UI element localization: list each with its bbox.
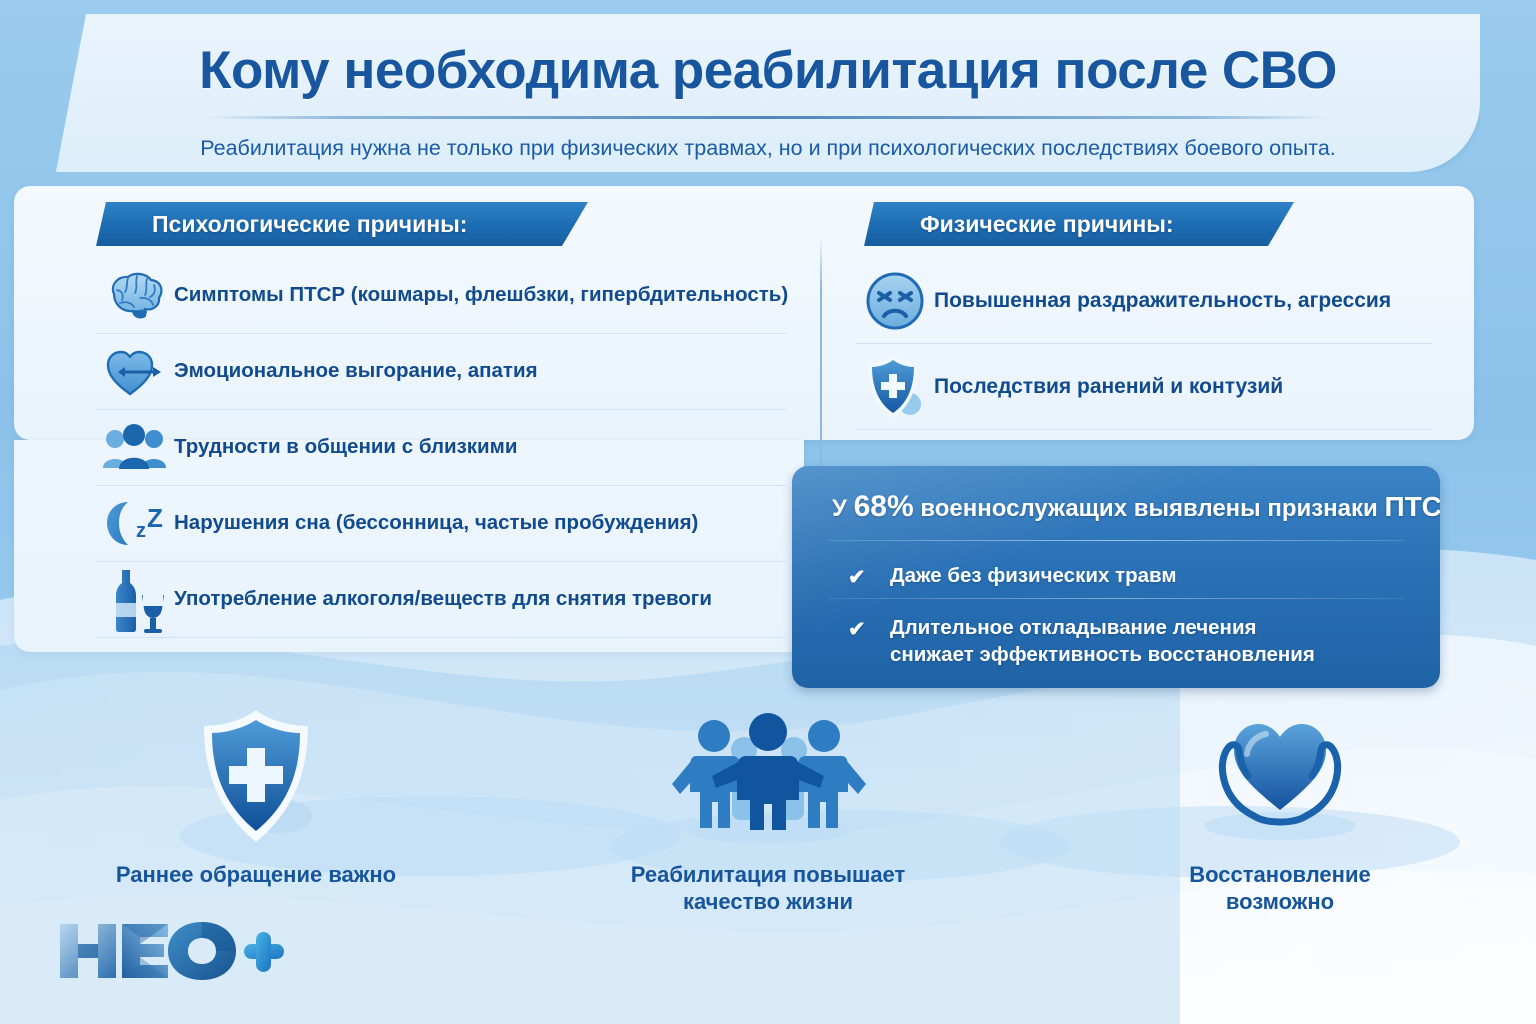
statistic-divider-2	[828, 598, 1404, 599]
feature-quality-of-life: Реабилитация повышает качество жизни	[512, 706, 1024, 936]
svg-text:z: z	[136, 520, 146, 542]
list-item-label: Повышенная раздражительность, агрессия	[934, 288, 1391, 313]
people-together-icon	[668, 706, 868, 846]
bottle-glass-icon	[96, 565, 174, 635]
statistic-bullet-label-line2: снижает эффективность восстановления	[890, 643, 1315, 666]
feature-caption-line1: Раннее обращение важно	[116, 862, 396, 887]
infographic-canvas: Кому необходима реабилитация после СВО Р…	[0, 0, 1536, 1024]
list-item: z Z Нарушения сна (бессонница, частые пр…	[96, 486, 786, 562]
angry-face-icon	[856, 266, 934, 336]
hands-heart-icon	[1190, 706, 1370, 846]
psychological-causes-header: Психологические причины:	[96, 202, 588, 246]
people-group-icon	[96, 413, 174, 483]
list-item: Употребление алкоголя/веществ для снятия…	[96, 562, 786, 638]
list-item: Эмоциональное выгорание, апатия	[96, 334, 786, 410]
statistic-headline: У 68% военнослужащих выявлены признаки П…	[832, 490, 1416, 524]
page-subtitle: Реабилитация нужна не только при физичес…	[56, 136, 1480, 161]
check-icon: ✔	[848, 564, 866, 592]
physical-causes-label: Физические причины:	[920, 211, 1174, 238]
brand-logo	[56, 918, 286, 989]
statistic-prefix: У	[832, 495, 847, 522]
physical-causes-header: Физические причины:	[864, 202, 1294, 246]
statistic-percent: 68%	[854, 490, 914, 523]
list-item-label: Последствия ранений и контузий	[934, 374, 1283, 399]
feature-recovery: Восстановление возможно	[1024, 706, 1536, 936]
shield-cross-icon	[192, 706, 320, 846]
psychological-causes-label: Психологические причины:	[152, 211, 467, 238]
list-item-label: Употребление алкоголя/веществ для снятия…	[174, 587, 712, 612]
title-divider	[206, 116, 1330, 119]
statistic-bullet: ✔ Длительное откладывание лечения снижае…	[848, 614, 1410, 668]
list-item-label: Эмоциональное выгорание, апатия	[174, 359, 538, 384]
list-item: Симптомы ПТСР (кошмары, флешбзки, гиперб…	[96, 258, 786, 334]
physical-causes-list: Повышенная раздражительность, агрессия П…	[856, 258, 1432, 430]
brain-icon	[96, 261, 174, 331]
header-panel: Кому необходима реабилитация после СВО Р…	[56, 14, 1480, 172]
feature-early-help: Раннее обращение важно	[0, 706, 512, 936]
feature-caption-line1: Реабилитация повышает	[631, 862, 906, 887]
statistic-divider	[828, 540, 1404, 541]
statistic-headline-rest: военнослужащих выявлены признаки	[920, 495, 1377, 522]
list-item-label: Трудности в общении с близкими	[174, 435, 517, 460]
list-item: Трудности в общении с близкими	[96, 410, 786, 486]
statistic-bullet-label: Даже без физических травм	[890, 564, 1177, 587]
feature-caption-line2: качество жизни	[683, 889, 853, 914]
statistic-bullet: ✔ Даже без физических травм	[848, 562, 1410, 589]
list-item: Повышенная раздражительность, агрессия	[856, 258, 1432, 344]
check-icon: ✔	[848, 616, 866, 644]
feature-caption: Раннее обращение важно	[116, 862, 396, 889]
list-item-label: Симптомы ПТСР (кошмары, флешбзки, гиперб…	[174, 283, 788, 308]
feature-row: Раннее обращение важно	[0, 706, 1536, 936]
feature-caption: Реабилитация повышает качество жизни	[631, 862, 906, 916]
heart-arrow-icon	[96, 337, 174, 407]
list-item: Последствия ранений и контузий	[856, 344, 1432, 430]
feature-caption: Восстановление возможно	[1189, 862, 1370, 916]
svg-text:Z: Z	[147, 503, 163, 533]
statistic-highlight-box: У 68% военнослужащих выявлены признаки П…	[792, 466, 1440, 688]
statistic-headline-tail: ПТСР	[1384, 491, 1440, 522]
feature-caption-line1: Восстановление	[1189, 862, 1370, 887]
psychological-causes-list: Симптомы ПТСР (кошмары, флешбзки, гиперб…	[96, 258, 786, 638]
page-title: Кому необходима реабилитация после СВО	[56, 40, 1480, 101]
moon-sleep-icon: z Z	[96, 489, 174, 559]
statistic-bullet-label-line1: Длительное откладывание лечения	[890, 616, 1257, 639]
list-item-label: Нарушения сна (бессонница, частые пробуж…	[174, 511, 698, 536]
shield-cross-icon	[856, 352, 934, 422]
feature-caption-line2: возможно	[1226, 889, 1334, 914]
